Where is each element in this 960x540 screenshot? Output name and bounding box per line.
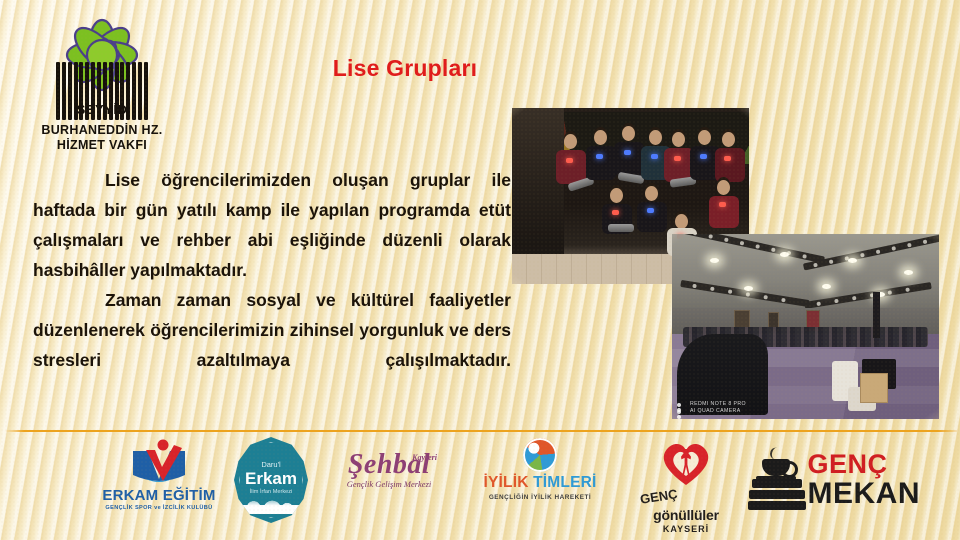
footer-logo-strip: ERKAM EĞİTİM GENÇLİK SPOR ve İZCİLİK KUL… — [0, 437, 960, 537]
logo-genc-mekan: GENÇ MEKAN — [748, 437, 920, 533]
logo-darul-erkam: Daru'l Erkam İlim İrfan Merkezi — [228, 437, 314, 533]
logo-iyilik-timleri: İYİLİK TİMLERİ GENÇLİĞİN İYİLİK HAREKETİ — [472, 437, 608, 533]
gonul-name-top: GENÇ — [639, 486, 678, 507]
photo-watermark: REDMI NOTE 8 PRO AI QUAD CAMERA — [677, 401, 746, 414]
paragraph-1: Lise öğrencilerimizden oluşan gruplar il… — [33, 165, 511, 285]
globe-icon — [523, 438, 557, 472]
sehbal-city: Kayseri — [412, 453, 437, 462]
paragraph-2: Zaman zaman sosyal ve kültürel faaliyetl… — [33, 285, 511, 405]
iyilik-tagline: GENÇLİĞİN İYİLİK HAREKETİ — [472, 494, 608, 501]
mosque-skyline-icon — [240, 494, 302, 514]
iyilik-name-part2: TİMLERİ — [533, 474, 596, 491]
iyilik-name: İYİLİK TİMLERİ — [472, 474, 608, 492]
photo-hall: REDMI NOTE 8 PRO AI QUAD CAMERA — [672, 234, 939, 419]
foundation-logo-line2: BURHANEDDİN HZ. — [22, 123, 182, 137]
gonul-city: KAYSERİ — [628, 524, 744, 534]
logo-genc-gonulluler: GENÇ gönüllüler KAYSERİ — [628, 437, 744, 533]
mekan-name-top: GENÇ — [808, 451, 921, 478]
heart-person-icon — [660, 439, 712, 485]
coffee-books-icon — [748, 449, 800, 511]
slide-title: Lise Grupları — [0, 55, 960, 82]
mekan-name-main: MEKAN — [808, 478, 921, 509]
slide-title-text: Lise Grupları — [333, 55, 477, 82]
footer-divider — [5, 430, 957, 432]
logo-sehbal: Kayseri Şehbal Gençlik Gelişim Merkezi — [325, 437, 453, 533]
erkam-logo-tagline: GENÇLİK SPOR ve İZCİLİK KULÜBÜ — [88, 505, 230, 511]
sehbal-tagline: Gençlik Gelişim Merkezi — [325, 479, 453, 489]
erkam-logo-name: ERKAM EĞİTİM — [88, 487, 230, 504]
watermark-line2: AI QUAD CAMERA — [690, 408, 741, 414]
erkam-check-icon — [122, 439, 196, 487]
slide-body-text: Lise öğrencilerimizden oluşan gruplar il… — [33, 165, 511, 405]
foundation-logo-line1: SEYYİD — [74, 102, 131, 117]
watermark-line1: REDMI NOTE 8 PRO — [690, 401, 746, 407]
logo-erkam-egitim: ERKAM EĞİTİM GENÇLİK SPOR ve İZCİLİK KUL… — [88, 437, 230, 533]
gonul-name-main: gönüllüler — [628, 507, 744, 523]
darul-erkam-badge: Daru'l Erkam İlim İrfan Merkezi — [234, 437, 308, 523]
foundation-logo-line3: HİZMET VAKFI — [22, 138, 182, 152]
presentation-slide: SEYYİD BURHANEDDİN HZ. HİZMET VAKFI Lise… — [0, 0, 960, 540]
iyilik-name-part1: İYİLİK — [483, 474, 528, 491]
